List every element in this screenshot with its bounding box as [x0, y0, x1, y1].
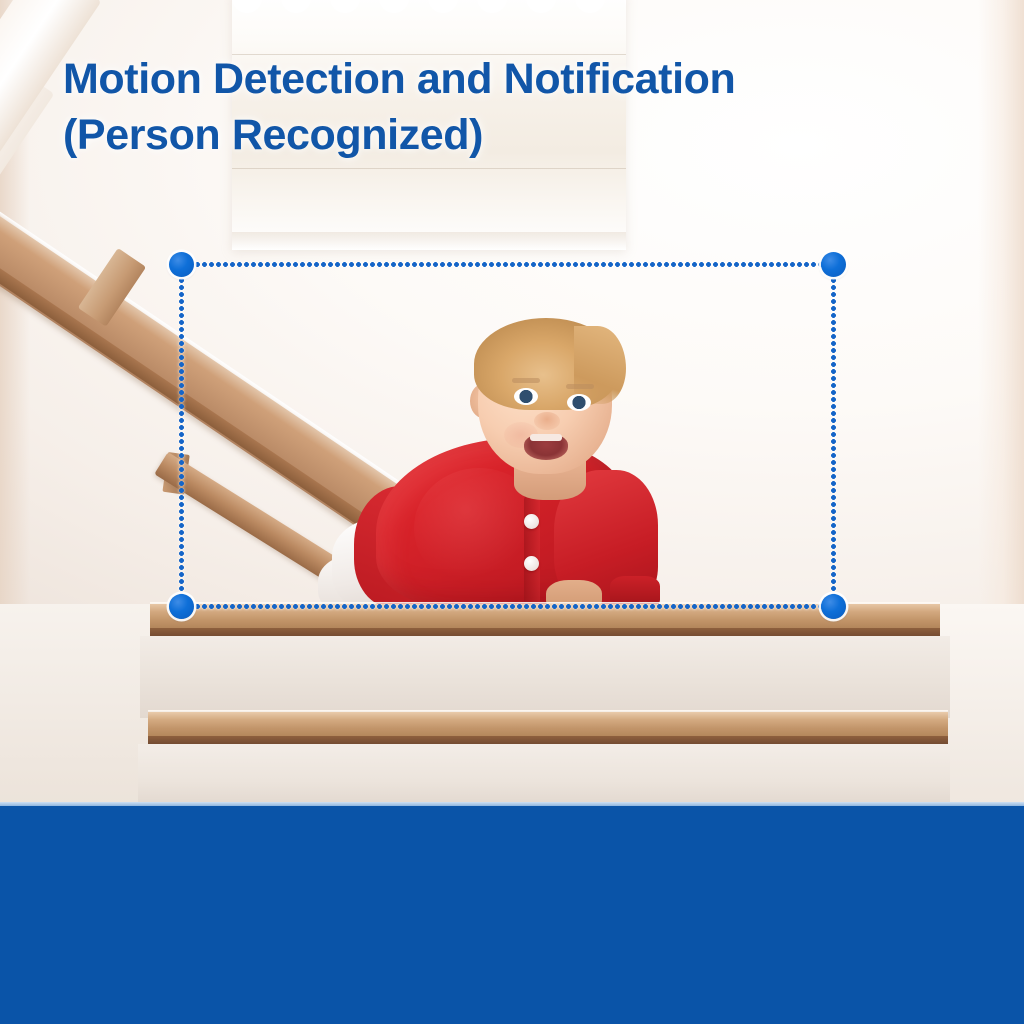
window-blind-scallop-edge	[232, 0, 626, 14]
zone-edge-right[interactable]	[831, 264, 836, 606]
stair-riser-upper	[140, 636, 950, 718]
zone-edge-bottom[interactable]	[181, 604, 833, 609]
blind-drop-shadow	[232, 232, 626, 250]
zone-edge-left[interactable]	[179, 264, 184, 606]
zone-handle-bottom-left[interactable]	[169, 594, 194, 619]
activity-detection-zone[interactable]	[181, 264, 833, 606]
zone-handle-top-right[interactable]	[821, 252, 846, 277]
blind-slat-line	[232, 168, 626, 169]
promo-image: Motion Detection and Notification (Perso…	[0, 0, 1024, 1024]
stair-side-left	[0, 604, 152, 806]
zone-handle-bottom-right[interactable]	[821, 594, 846, 619]
camera-scene-photo: Motion Detection and Notification (Perso…	[0, 0, 1024, 806]
stair-tread-lower	[148, 712, 948, 738]
zone-edge-top[interactable]	[181, 262, 833, 267]
headline-line-1: Motion Detection and Notification	[63, 55, 735, 103]
page-title: Motion Detection and Notification (Perso…	[63, 52, 923, 164]
stair-riser-lower	[138, 744, 950, 806]
headline-line-2: (Person Recognized)	[63, 108, 923, 164]
stair-side-right	[938, 604, 1024, 806]
bottom-banner: Control what alerts you receive by creat…	[0, 806, 1024, 1024]
zone-handle-top-left[interactable]	[169, 252, 194, 277]
zone-fill	[181, 264, 833, 606]
